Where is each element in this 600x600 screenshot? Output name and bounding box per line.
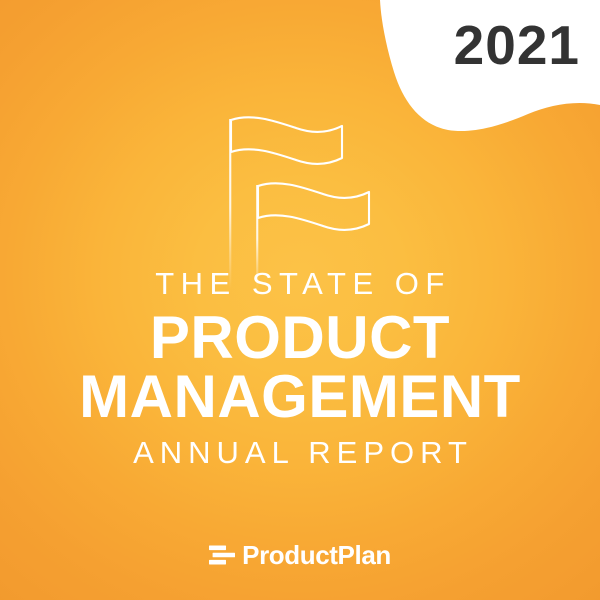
subline-text: ANNUAL REPORT xyxy=(0,437,600,470)
productplan-bars-icon xyxy=(209,545,235,565)
brand-name: ProductPlan xyxy=(242,542,391,568)
report-cover: 2021 THE STATE OF xyxy=(0,0,600,600)
eyebrow-text: THE STATE OF xyxy=(0,268,600,301)
brand-lockup: ProductPlan xyxy=(0,542,600,568)
year-badge: 2021 xyxy=(454,18,580,73)
title-block: THE STATE OF PRODUCT MANAGEMENT ANNUAL R… xyxy=(0,268,600,469)
headline-line1: PRODUCT xyxy=(0,307,600,368)
headline-line2: MANAGEMENT xyxy=(0,366,600,427)
